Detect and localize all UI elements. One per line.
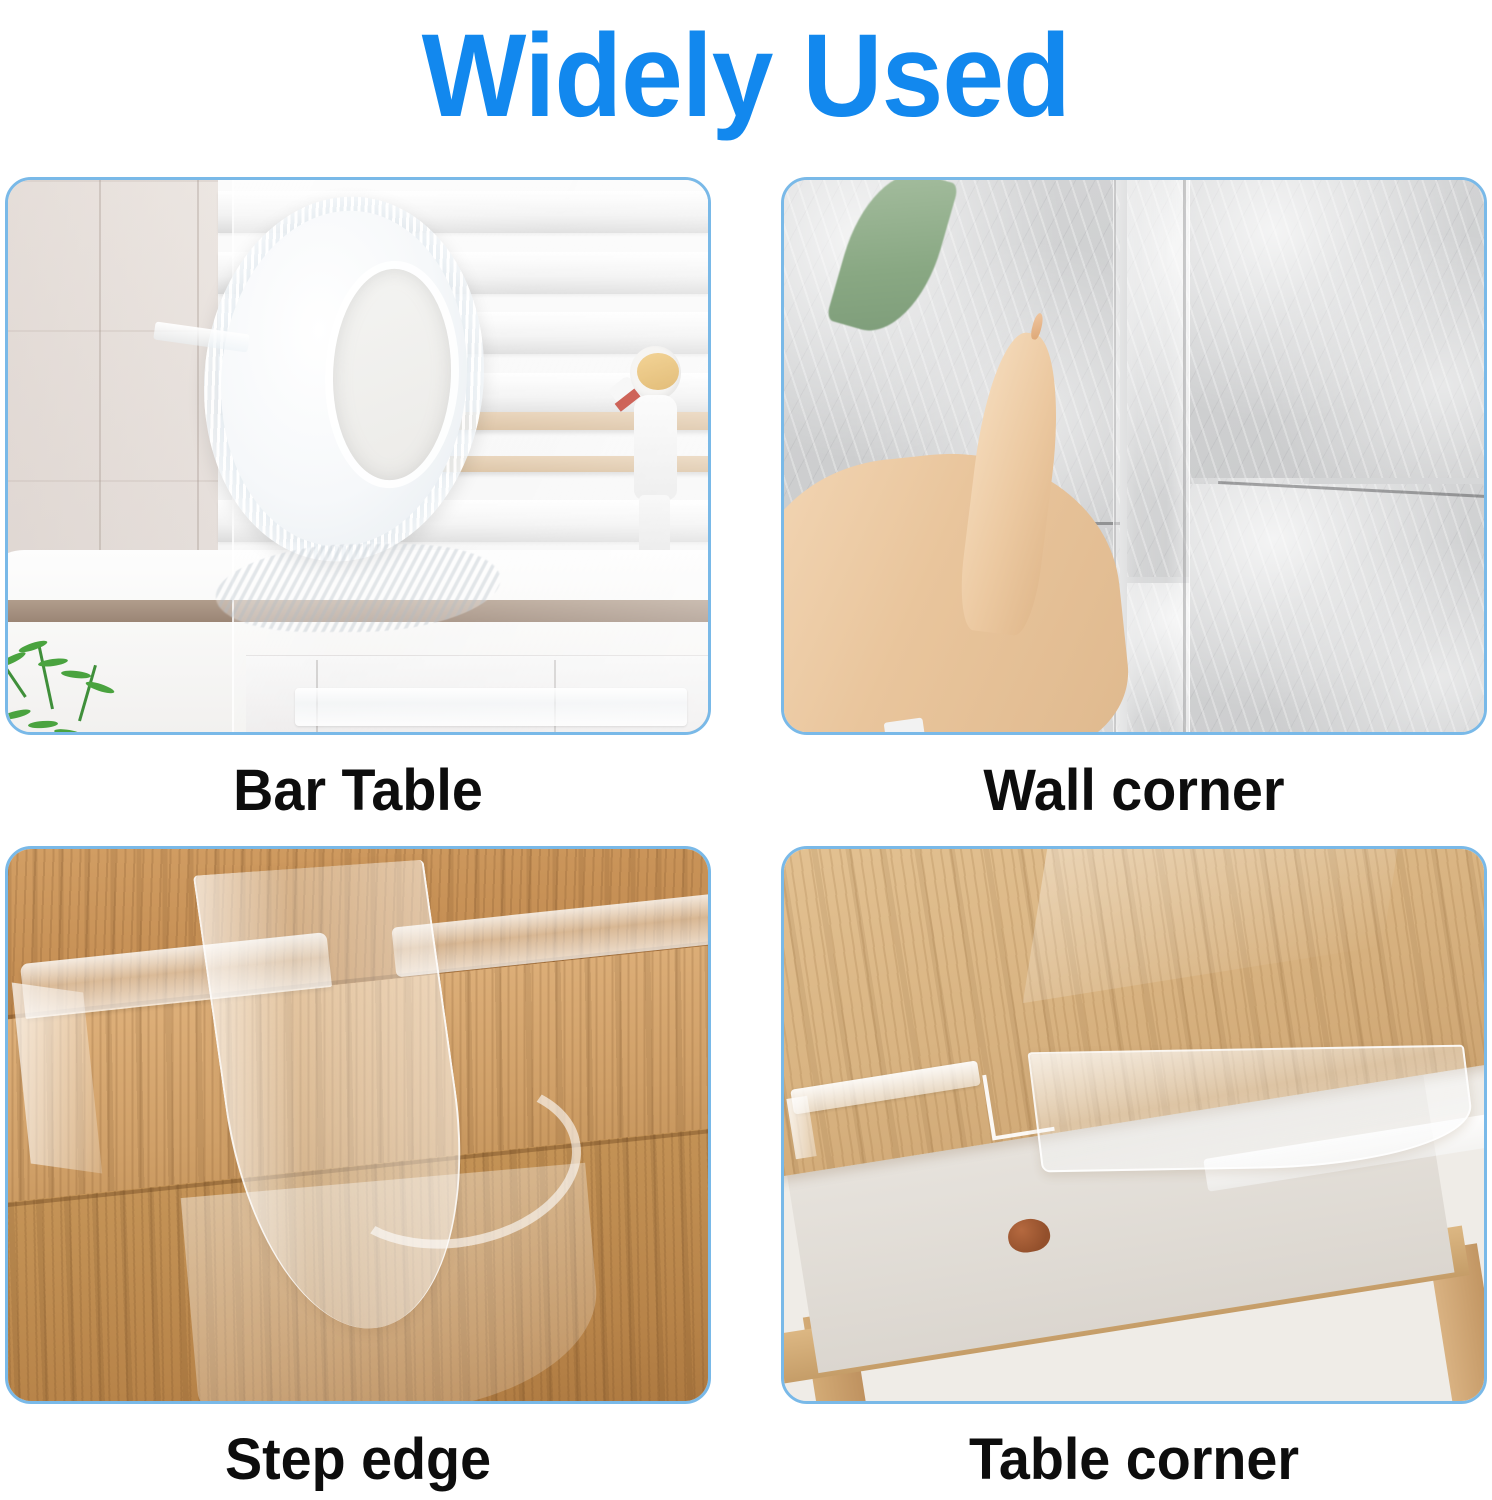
marble-tile xyxy=(1190,484,1484,732)
panel-wall-corner: Wall corner xyxy=(781,177,1487,735)
panel-caption-step-edge: Step edge xyxy=(19,1426,697,1493)
tape-roll xyxy=(204,197,484,561)
photo-wall-corner xyxy=(781,177,1487,735)
photo-step-edge xyxy=(5,846,711,1404)
page-header: Widely Used xyxy=(0,0,1492,152)
scene-step-edge xyxy=(8,849,708,1401)
fern-leaf xyxy=(8,649,27,668)
fern-leaf xyxy=(61,670,92,680)
fern-leaf xyxy=(54,727,85,732)
fern-leaf xyxy=(27,720,57,729)
page-title: Widely Used xyxy=(422,17,1070,135)
scene-wall-corner xyxy=(784,180,1484,732)
pointing-hand xyxy=(784,357,1190,732)
marble-tile xyxy=(1190,180,1484,478)
panel-grid: Bar Table xyxy=(0,152,1492,1500)
scene-table-corner xyxy=(784,849,1484,1401)
fern-leaf xyxy=(8,708,31,722)
photo-table-corner xyxy=(781,846,1487,1404)
photo-bar-table xyxy=(5,177,711,735)
scene-bar-table xyxy=(8,180,708,732)
panel-caption-bar-table: Bar Table xyxy=(19,757,697,824)
panel-table-corner: Table corner xyxy=(781,846,1487,1404)
fern-leaf xyxy=(17,639,48,655)
panel-bar-table: Bar Table xyxy=(5,177,711,735)
panel-step-edge: Step edge xyxy=(5,846,711,1404)
hand-palm xyxy=(784,436,1136,732)
fern-stem xyxy=(38,646,54,709)
panel-caption-wall-corner: Wall corner xyxy=(795,757,1473,824)
installed-edge-guard xyxy=(295,688,687,727)
panel-caption-table-corner: Table corner xyxy=(795,1426,1473,1493)
fern-plant xyxy=(8,588,162,732)
